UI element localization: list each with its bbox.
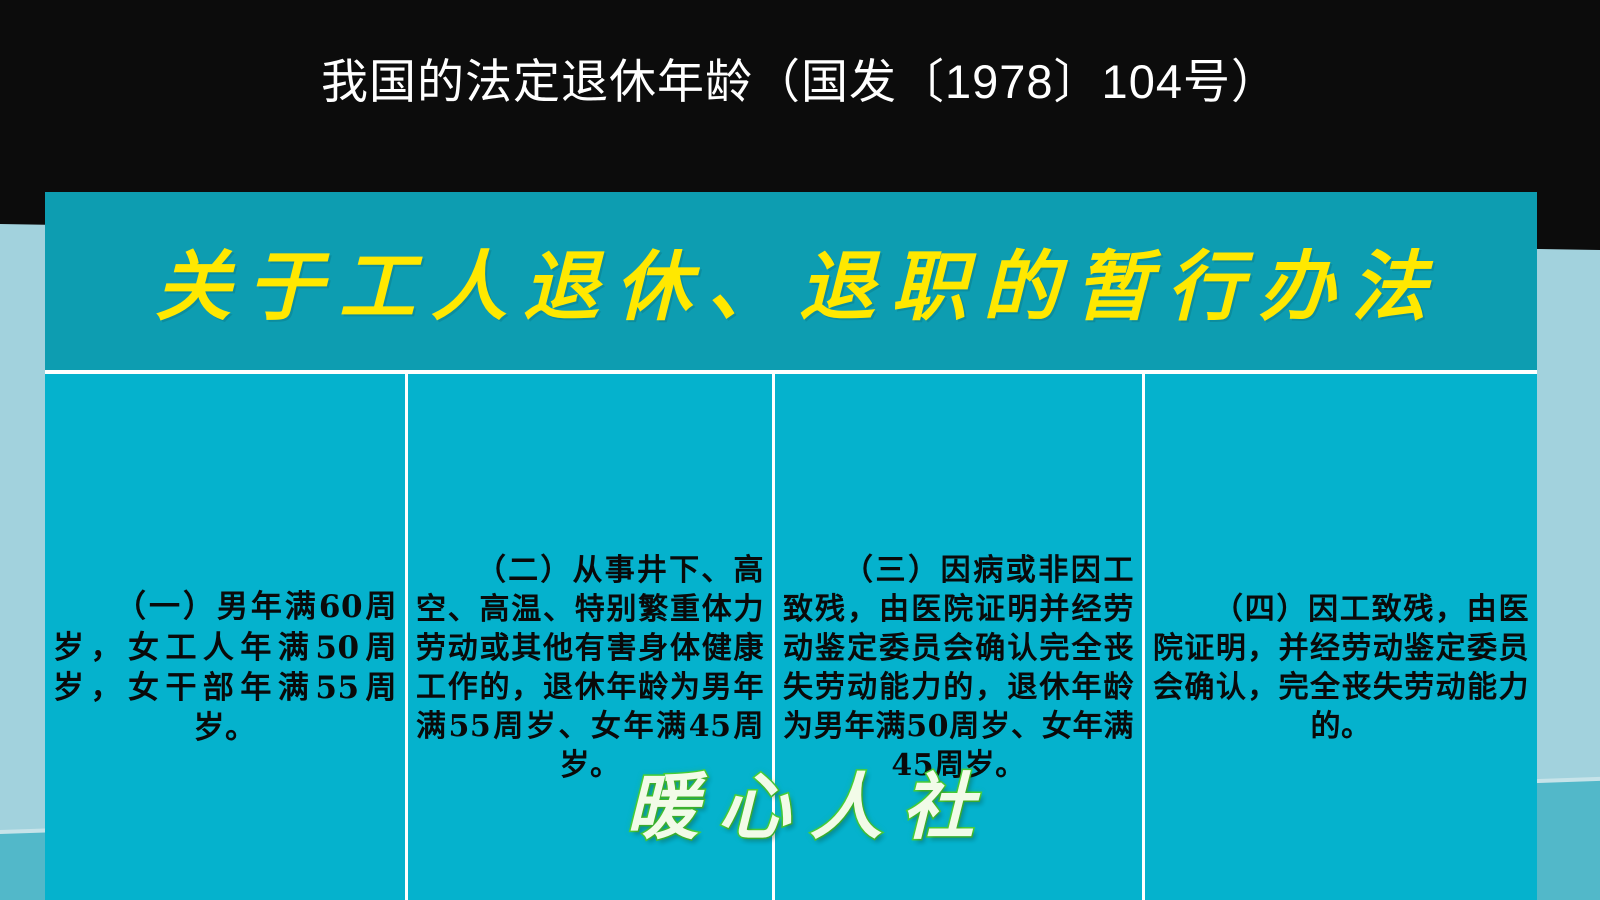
provisions-table: （一）男年满60周岁，女工人年满50周岁，女干部年满55周岁。 （二）从事井下、… (45, 370, 1537, 900)
table-cell-provision-4: （四）因工致残，由医院证明，并经劳动鉴定委员会确认，完全丧失劳动能力的。 (1145, 374, 1537, 900)
content-panel: 关于工人退休、退职的暂行办法 （一）男年满60周岁，女工人年满50周岁，女干部年… (45, 192, 1537, 810)
provision-text: （三）因病或非因工致残，由医院证明并经劳动鉴定委员会确认完全丧失劳动能力的，退休… (783, 551, 1134, 785)
slide-canvas: 我国的法定退休年龄（国发〔1978〕104号） 关于工人退休、退职的暂行办法 （… (0, 0, 1600, 900)
table-cell-provision-2: （二）从事井下、高空、高温、特别繁重体力劳动或其他有害身体健康工作的，退休年龄为… (408, 374, 775, 900)
table-cell-provision-1: （一）男年满60周岁，女工人年满50周岁，女干部年满55周岁。 (45, 374, 408, 900)
table-cell-provision-3: （三）因病或非因工致残，由医院证明并经劳动鉴定委员会确认完全丧失劳动能力的，退休… (775, 374, 1145, 900)
panel-heading: 关于工人退休、退职的暂行办法 (45, 192, 1537, 367)
provision-text: （一）男年满60周岁，女工人年满50周岁，女干部年满55周岁。 (53, 587, 397, 748)
provision-text: （四）因工致残，由医院证明，并经劳动鉴定委员会确认，完全丧失劳动能力的。 (1153, 590, 1529, 746)
provision-text: （二）从事井下、高空、高温、特别繁重体力劳动或其他有害身体健康工作的，退休年龄为… (416, 551, 764, 785)
page-title: 我国的法定退休年龄（国发〔1978〕104号） (0, 54, 1600, 109)
